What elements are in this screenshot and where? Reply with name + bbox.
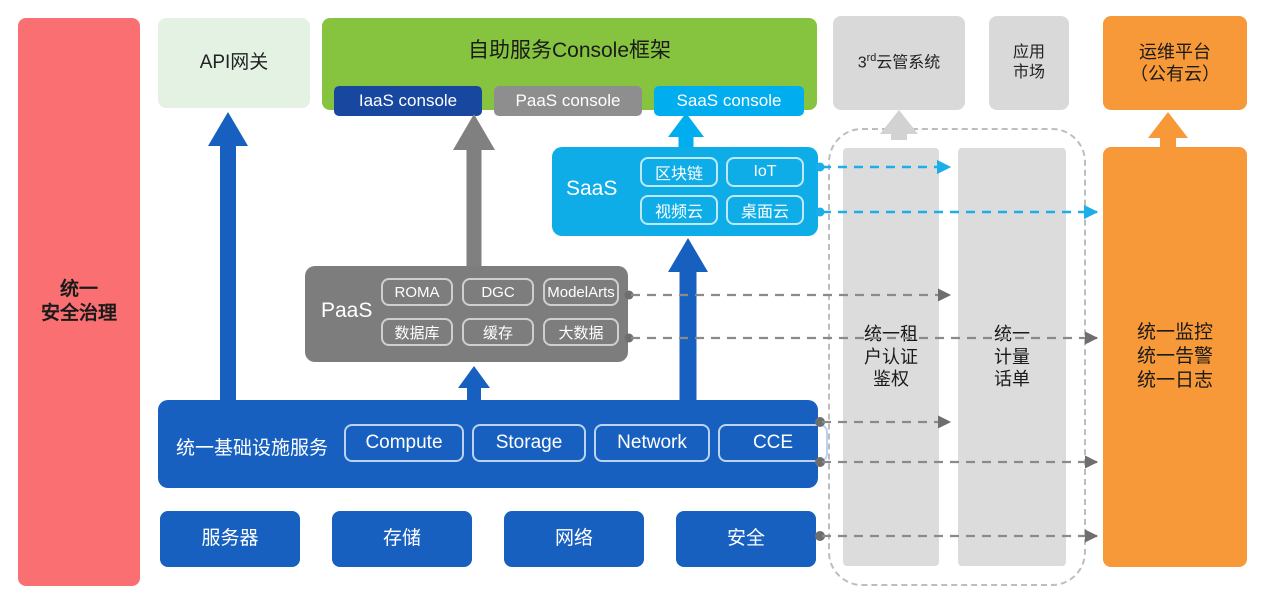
console-framework-title: 自助服务Console框架 bbox=[322, 34, 817, 64]
paas-service-database[interactable]: 数据库 bbox=[381, 318, 453, 346]
paas-service-dgc[interactable]: DGC bbox=[462, 278, 534, 306]
paas-service-bigdata-label: 大数据 bbox=[558, 322, 603, 343]
infrastructure-service-network-label: Network bbox=[617, 432, 687, 454]
paas-service-modelarts[interactable]: ModelArts bbox=[543, 278, 619, 306]
saas-service-desktop-cloud[interactable]: 桌面云 bbox=[726, 195, 804, 225]
paas-service-database-label: 数据库 bbox=[394, 322, 439, 343]
hardware-security-box: 安全 bbox=[676, 511, 816, 567]
saas-label: SaaS bbox=[566, 177, 617, 201]
infrastructure-service-storage-label: Storage bbox=[496, 432, 563, 454]
infrastructure-service-cce-label: CCE bbox=[753, 432, 793, 454]
ops-platform-label: 运维平台 （公有云） bbox=[1130, 41, 1220, 86]
security-governance-label: 统一 安全治理 bbox=[41, 278, 117, 326]
paas-service-bigdata[interactable]: 大数据 bbox=[543, 318, 619, 346]
paas-service-cache[interactable]: 缓存 bbox=[462, 318, 534, 346]
saas-service-video-cloud[interactable]: 视频云 bbox=[640, 195, 718, 225]
hardware-network-label: 网络 bbox=[555, 527, 593, 551]
infrastructure-service-storage[interactable]: Storage bbox=[472, 424, 586, 462]
infrastructure-service-cce[interactable]: CCE bbox=[718, 424, 828, 462]
saas-console-button[interactable]: SaaS console bbox=[654, 86, 804, 116]
iaas-console-button[interactable]: IaaS console bbox=[334, 86, 482, 116]
hardware-server-box: 服务器 bbox=[160, 511, 300, 567]
infrastructure-label: 统一基础设施服务 bbox=[176, 433, 328, 460]
hardware-server-label: 服务器 bbox=[201, 527, 258, 551]
security-governance-panel: 统一 安全治理 bbox=[18, 18, 140, 586]
saas-panel: SaaS 区块链 IoT 视频云 桌面云 bbox=[552, 147, 818, 236]
paas-service-roma-label: ROMA bbox=[395, 284, 440, 301]
architecture-diagram: 统一 安全治理 API网关 自助服务Console框架 IaaS console… bbox=[0, 0, 1265, 605]
api-gateway-box: API网关 bbox=[158, 18, 310, 108]
arrow-infra-to-saas bbox=[668, 238, 708, 400]
third-party-cloud-mgmt-box: 3rd云管系统 bbox=[833, 16, 965, 110]
app-market-box: 应用 市场 bbox=[989, 16, 1069, 110]
arrow-paas-to-console bbox=[453, 114, 495, 266]
saas-service-blockchain[interactable]: 区块链 bbox=[640, 157, 718, 187]
paas-service-cache-label: 缓存 bbox=[483, 322, 513, 343]
arrow-saas-to-console bbox=[668, 113, 704, 147]
hardware-storage-box: 存储 bbox=[332, 511, 472, 567]
shared-service-auth-label: 统一租 户认证 鉴权 bbox=[864, 323, 918, 391]
arrow-infra-to-paas bbox=[458, 366, 490, 400]
infrastructure-service-compute-label: Compute bbox=[365, 432, 442, 454]
saas-service-blockchain-label: 区块链 bbox=[655, 160, 703, 184]
api-gateway-label: API网关 bbox=[200, 51, 269, 75]
saas-service-iot[interactable]: IoT bbox=[726, 157, 804, 187]
infrastructure-service-network[interactable]: Network bbox=[594, 424, 710, 462]
third-party-superscript: rd bbox=[867, 52, 877, 64]
paas-service-modelarts-label: ModelArts bbox=[547, 284, 615, 301]
shared-service-metering-column: 统一 计量 话单 bbox=[958, 148, 1066, 566]
shared-service-auth-column: 统一租 户认证 鉴权 bbox=[843, 148, 939, 566]
third-party-cloud-mgmt-label: 3rd云管系统 bbox=[858, 52, 941, 73]
saas-console-label: SaaS console bbox=[677, 91, 782, 111]
arrow-ops-panel-to-ops-platform bbox=[1148, 112, 1188, 147]
paas-console-label: PaaS console bbox=[516, 91, 621, 111]
paas-label: PaaS bbox=[321, 299, 372, 323]
ops-platform-box: 运维平台 （公有云） bbox=[1103, 16, 1247, 110]
ops-monitoring-label: 统一监控 统一告警 统一日志 bbox=[1137, 321, 1213, 392]
ops-monitoring-panel: 统一监控 统一告警 统一日志 bbox=[1103, 147, 1247, 567]
paas-panel: PaaS ROMA DGC ModelArts 数据库 缓存 大数据 bbox=[305, 266, 628, 362]
hardware-security-label: 安全 bbox=[727, 527, 765, 551]
hardware-storage-label: 存储 bbox=[383, 527, 421, 551]
paas-service-roma[interactable]: ROMA bbox=[381, 278, 453, 306]
paas-console-button[interactable]: PaaS console bbox=[494, 86, 642, 116]
paas-service-dgc-label: DGC bbox=[481, 284, 514, 301]
hardware-network-box: 网络 bbox=[504, 511, 644, 567]
saas-service-video-cloud-label: 视频云 bbox=[655, 198, 703, 222]
arrow-infra-to-api-gateway bbox=[208, 112, 248, 400]
infrastructure-service-compute[interactable]: Compute bbox=[344, 424, 464, 462]
shared-service-metering-label: 统一 计量 话单 bbox=[994, 323, 1030, 391]
saas-service-desktop-cloud-label: 桌面云 bbox=[741, 198, 789, 222]
iaas-console-label: IaaS console bbox=[359, 91, 457, 111]
console-framework-panel: 自助服务Console框架 IaaS console PaaS console … bbox=[322, 18, 817, 110]
infrastructure-panel: 统一基础设施服务 Compute Storage Network CCE bbox=[158, 400, 818, 488]
app-market-label: 应用 市场 bbox=[1013, 43, 1045, 83]
saas-service-iot-label: IoT bbox=[753, 163, 776, 181]
